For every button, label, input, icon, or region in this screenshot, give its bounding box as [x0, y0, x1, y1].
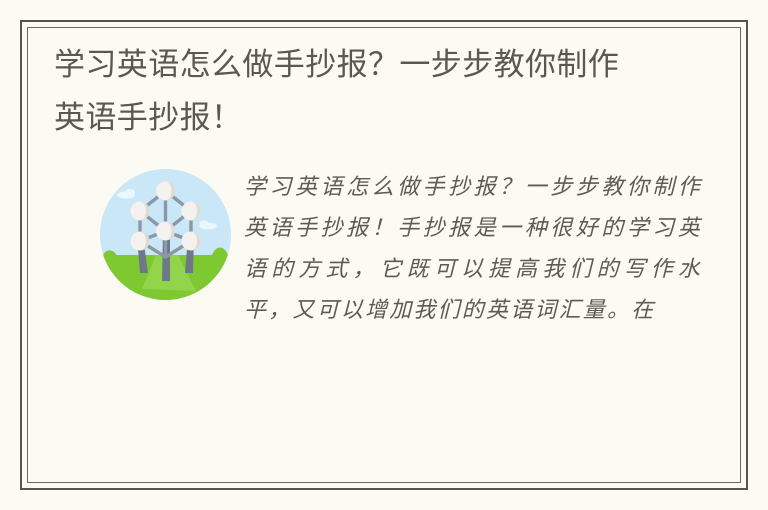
atomium-monument-illustration-icon	[100, 169, 231, 300]
article-body: 学习英语怎么做手抄报？一步步教你制作英语手抄报！手抄报是一种很好的学习英语的方式…	[54, 167, 724, 417]
article-content: 学习英语怎么做手抄报？一步步教你制作英语手抄报！	[54, 38, 724, 478]
page-title: 学习英语怎么做手抄报？一步步教你制作英语手抄报！	[54, 38, 634, 144]
article-frame: 学习英语怎么做手抄报？一步步教你制作英语手抄报！	[20, 20, 748, 490]
article-paragraph: 学习英语怎么做手抄报？一步步教你制作英语手抄报！手抄报是一种很好的学习英语的方式…	[244, 167, 702, 331]
